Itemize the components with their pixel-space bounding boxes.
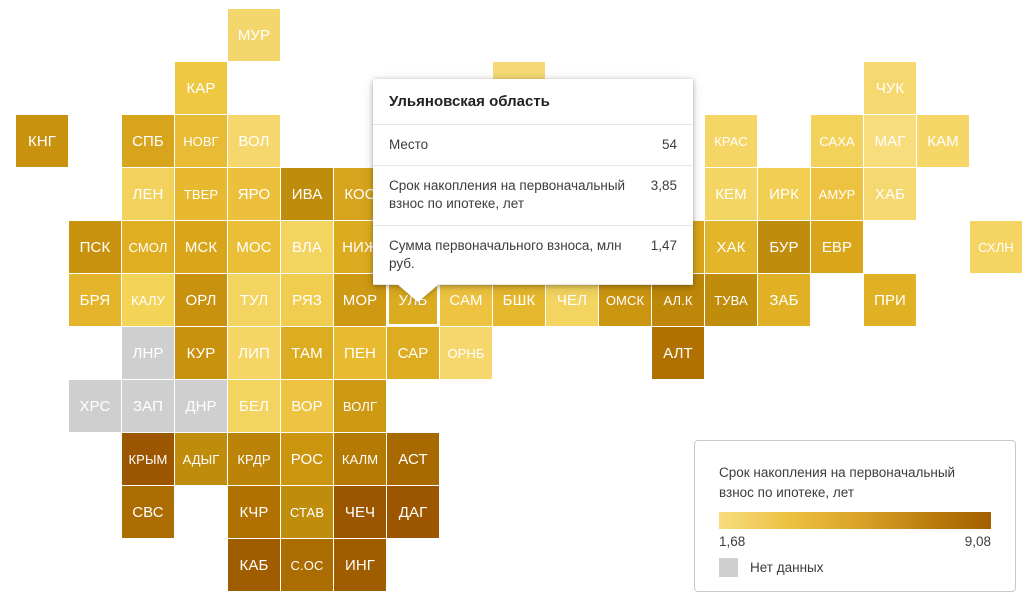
tooltip-title: Ульяновская область	[373, 79, 693, 125]
region-tile-ЛЕН[interactable]: ЛЕН	[122, 168, 174, 220]
region-tile-СХЛН[interactable]: СХЛН	[970, 221, 1022, 273]
region-tile-ТАМ[interactable]: ТАМ	[281, 327, 333, 379]
region-tile-ДАГ[interactable]: ДАГ	[387, 486, 439, 538]
region-tile-МУР[interactable]: МУР	[228, 9, 280, 61]
tooltip-row-value: 54	[662, 136, 677, 154]
region-tile-КУР[interactable]: КУР	[175, 327, 227, 379]
region-tile-САХА[interactable]: САХА	[811, 115, 863, 167]
region-tile-СТАВ[interactable]: СТАВ	[281, 486, 333, 538]
region-tooltip: Ульяновская область Место 54 Срок накопл…	[373, 79, 693, 285]
region-tile-СМОЛ[interactable]: СМОЛ	[122, 221, 174, 273]
region-tile-С.ОС[interactable]: С.ОС	[281, 539, 333, 591]
region-tile-ТУЛ[interactable]: ТУЛ	[228, 274, 280, 326]
region-tile-ЧЕЧ[interactable]: ЧЕЧ	[334, 486, 386, 538]
tooltip-row-rank: Место 54	[373, 125, 693, 166]
region-tile-АМУР[interactable]: АМУР	[811, 168, 863, 220]
region-tile-КАР[interactable]: КАР	[175, 62, 227, 114]
region-tile-СПБ[interactable]: СПБ	[122, 115, 174, 167]
region-tile-ТУВА[interactable]: ТУВА	[705, 274, 757, 326]
region-tile-ЧУК[interactable]: ЧУК	[864, 62, 916, 114]
tooltip-row-downpayment: Сумма первоначального взноса, млн руб. 1…	[373, 226, 693, 285]
tooltip-row-value: 1,47	[651, 237, 677, 255]
region-tile-ВОЛ[interactable]: ВОЛ	[228, 115, 280, 167]
region-tile-КАЛУ[interactable]: КАЛУ	[122, 274, 174, 326]
region-tile-КРАС[interactable]: КРАС	[705, 115, 757, 167]
region-tile-ВОР[interactable]: ВОР	[281, 380, 333, 432]
tooltip-row-label: Сумма первоначального взноса, млн руб.	[389, 237, 641, 273]
region-tile-ОРНБ[interactable]: ОРНБ	[440, 327, 492, 379]
region-tile-БРЯ[interactable]: БРЯ	[69, 274, 121, 326]
legend-max-label: 9,08	[965, 534, 991, 549]
region-tile-ИРК[interactable]: ИРК	[758, 168, 810, 220]
region-tile-ОРЛ[interactable]: ОРЛ	[175, 274, 227, 326]
region-tile-КЧР[interactable]: КЧР	[228, 486, 280, 538]
region-tile-МСК[interactable]: МСК	[175, 221, 227, 273]
legend-nodata-swatch	[719, 558, 738, 577]
legend-color-ramp	[719, 512, 991, 529]
region-tile-ЛИП[interactable]: ЛИП	[228, 327, 280, 379]
tooltip-row-label: Срок накопления на первоначальный взнос …	[389, 177, 641, 213]
region-tile-ЗАБ[interactable]: ЗАБ	[758, 274, 810, 326]
region-tile-МАГ[interactable]: МАГ	[864, 115, 916, 167]
region-tile-ХРС[interactable]: ХРС	[69, 380, 121, 432]
region-tile-ДНР[interactable]: ДНР	[175, 380, 227, 432]
region-tile-ИВА[interactable]: ИВА	[281, 168, 333, 220]
region-tile-БУР[interactable]: БУР	[758, 221, 810, 273]
region-tile-ВЛА[interactable]: ВЛА	[281, 221, 333, 273]
tooltip-row-label: Место	[389, 136, 652, 154]
region-tile-БЕЛ[interactable]: БЕЛ	[228, 380, 280, 432]
legend-nodata-row: Нет данных	[719, 558, 991, 577]
region-tile-АДЫГ[interactable]: АДЫГ	[175, 433, 227, 485]
region-tile-ХАК[interactable]: ХАК	[705, 221, 757, 273]
legend-title: Срок накопления на первоначальный взнос …	[719, 463, 989, 502]
region-tile-РЯЗ[interactable]: РЯЗ	[281, 274, 333, 326]
region-tile-СВС[interactable]: СВС	[122, 486, 174, 538]
region-tile-ПСК[interactable]: ПСК	[69, 221, 121, 273]
tooltip-row-value: 3,85	[651, 177, 677, 195]
region-tile-ЕВР[interactable]: ЕВР	[811, 221, 863, 273]
region-tile-КЕМ[interactable]: КЕМ	[705, 168, 757, 220]
region-tile-КНГ[interactable]: КНГ	[16, 115, 68, 167]
region-tile-ПЕН[interactable]: ПЕН	[334, 327, 386, 379]
region-tile-КАМ[interactable]: КАМ	[917, 115, 969, 167]
region-tile-МОС[interactable]: МОС	[228, 221, 280, 273]
tooltip-row-years: Срок накопления на первоначальный взнос …	[373, 166, 693, 225]
legend-min-label: 1,68	[719, 534, 745, 549]
region-tile-ХАБ[interactable]: ХАБ	[864, 168, 916, 220]
tooltip-arrow-icon	[397, 284, 439, 302]
region-tile-ИНГ[interactable]: ИНГ	[334, 539, 386, 591]
region-tile-ЗАП[interactable]: ЗАП	[122, 380, 174, 432]
region-tile-ТВЕР[interactable]: ТВЕР	[175, 168, 227, 220]
region-tile-НОВГ[interactable]: НОВГ	[175, 115, 227, 167]
region-tile-АСТ[interactable]: АСТ	[387, 433, 439, 485]
region-tile-ВОЛГ[interactable]: ВОЛГ	[334, 380, 386, 432]
legend-scale: 1,68 9,08	[719, 534, 991, 549]
region-tile-ЛНР[interactable]: ЛНР	[122, 327, 174, 379]
region-tile-САР[interactable]: САР	[387, 327, 439, 379]
region-tile-РОС[interactable]: РОС	[281, 433, 333, 485]
region-tile-ПРИ[interactable]: ПРИ	[864, 274, 916, 326]
region-tile-ЯРО[interactable]: ЯРО	[228, 168, 280, 220]
region-tile-КАБ[interactable]: КАБ	[228, 539, 280, 591]
legend-panel: Срок накопления на первоначальный взнос …	[694, 440, 1016, 592]
legend-nodata-label: Нет данных	[750, 560, 824, 575]
region-tile-КРЫМ[interactable]: КРЫМ	[122, 433, 174, 485]
region-tile-АЛТ[interactable]: АЛТ	[652, 327, 704, 379]
region-tile-КАЛМ[interactable]: КАЛМ	[334, 433, 386, 485]
region-tile-КРДР[interactable]: КРДР	[228, 433, 280, 485]
